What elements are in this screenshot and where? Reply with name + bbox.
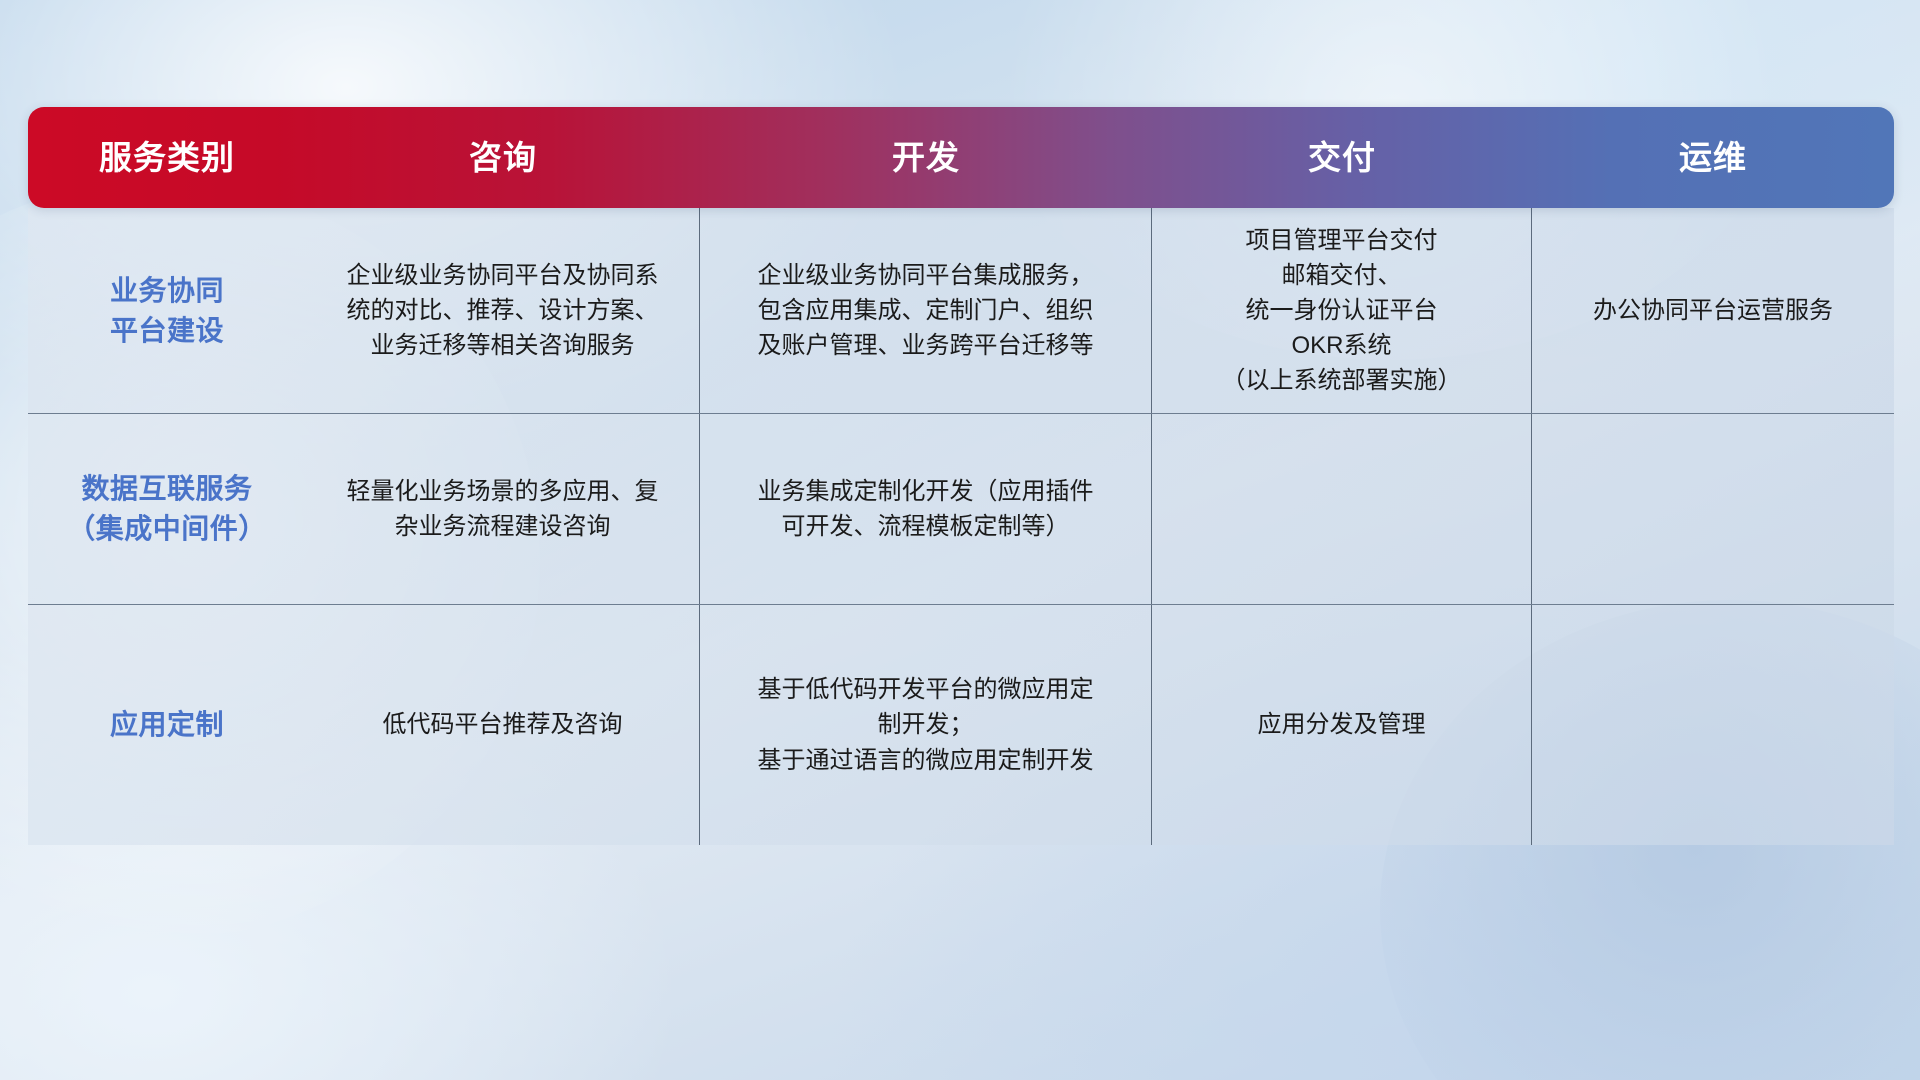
cell-text: 数据互联服务（集成中间件） [67, 469, 267, 549]
cell-text-line: 轻量化业务场景的多应用、复 [347, 474, 659, 509]
cell-text-line: 企业级业务协同平台及协同系 [347, 258, 659, 293]
cell-text-line: （集成中间件） [67, 509, 267, 549]
cell-text-line: 业务协同 [110, 271, 224, 311]
cell-text: 基于低代码开发平台的微应用定制开发；基于通过语言的微应用定制开发 [758, 672, 1094, 777]
row-delivery-cell: 应用分发及管理 [1152, 605, 1532, 845]
cell-text-line: 应用定制 [110, 705, 224, 745]
column-header-label: 服务类别 [99, 141, 235, 174]
row-consulting-cell: 企业级业务协同平台及协同系统的对比、推荐、设计方案、业务迁移等相关咨询服务 [306, 208, 700, 413]
service-matrix-table: 服务类别 咨询 开发 交付 运维 业务协同平台建设 企业级业务协同平台及协同系统… [28, 107, 1894, 845]
row-delivery-cell: 项目管理平台交付邮箱交付、统一身份认证平台OKR系统（以上系统部署实施） [1152, 208, 1532, 413]
cell-text-line: 低代码平台推荐及咨询 [383, 707, 623, 742]
row-category-cell: 业务协同平台建设 [28, 208, 306, 413]
table-row: 业务协同平台建设 企业级业务协同平台及协同系统的对比、推荐、设计方案、业务迁移等… [28, 208, 1894, 414]
cell-text-line: 基于低代码开发平台的微应用定 [758, 672, 1094, 707]
cell-text-line: 统一身份认证平台 [1222, 293, 1462, 328]
column-header-label: 开发 [892, 141, 960, 174]
cell-text: 业务集成定制化开发（应用插件可开发、流程模板定制等） [758, 474, 1094, 544]
column-header-label: 交付 [1308, 141, 1376, 174]
cell-text: 应用分发及管理 [1258, 707, 1426, 742]
row-category-cell: 数据互联服务（集成中间件） [28, 414, 306, 604]
cell-text: 企业级业务协同平台集成服务，包含应用集成、定制门户、组织及账户管理、业务跨平台迁… [758, 258, 1094, 363]
row-consulting-cell: 低代码平台推荐及咨询 [306, 605, 700, 845]
cell-text: 项目管理平台交付邮箱交付、统一身份认证平台OKR系统（以上系统部署实施） [1222, 223, 1462, 398]
cell-text-line: 可开发、流程模板定制等） [758, 509, 1094, 544]
row-operations-cell [1532, 414, 1894, 604]
column-header-consulting: 咨询 [306, 107, 700, 208]
cell-text: 低代码平台推荐及咨询 [383, 707, 623, 742]
cell-text-line: 邮箱交付、 [1222, 258, 1462, 293]
row-operations-cell: 办公协同平台运营服务 [1532, 208, 1894, 413]
row-delivery-cell [1152, 414, 1532, 604]
column-header-service-category: 服务类别 [28, 107, 306, 208]
cell-text-line: 基于通过语言的微应用定制开发 [758, 743, 1094, 778]
cell-text-line: 办公协同平台运营服务 [1593, 293, 1833, 328]
column-header-operations: 运维 [1532, 107, 1894, 208]
cell-text: 应用定制 [110, 705, 224, 745]
row-development-cell: 业务集成定制化开发（应用插件可开发、流程模板定制等） [700, 414, 1152, 604]
row-development-cell: 基于低代码开发平台的微应用定制开发；基于通过语言的微应用定制开发 [700, 605, 1152, 845]
cell-text: 业务协同平台建设 [110, 271, 224, 351]
cell-text-line: 包含应用集成、定制门户、组织 [758, 293, 1094, 328]
table-row: 应用定制 低代码平台推荐及咨询 基于低代码开发平台的微应用定制开发；基于通过语言… [28, 605, 1894, 845]
cell-text-line: 数据互联服务 [67, 469, 267, 509]
column-header-label: 运维 [1679, 141, 1747, 174]
column-header-development: 开发 [700, 107, 1152, 208]
cell-text-line: OKR系统 [1222, 328, 1462, 363]
cell-text-line: 业务集成定制化开发（应用插件 [758, 474, 1094, 509]
cell-text-line: （以上系统部署实施） [1222, 363, 1462, 398]
cell-text: 企业级业务协同平台及协同系统的对比、推荐、设计方案、业务迁移等相关咨询服务 [347, 258, 659, 363]
cell-text-line: 业务迁移等相关咨询服务 [347, 328, 659, 363]
row-development-cell: 企业级业务协同平台集成服务，包含应用集成、定制门户、组织及账户管理、业务跨平台迁… [700, 208, 1152, 413]
table-body: 业务协同平台建设 企业级业务协同平台及协同系统的对比、推荐、设计方案、业务迁移等… [28, 208, 1894, 845]
cell-text-line: 统的对比、推荐、设计方案、 [347, 293, 659, 328]
table-row: 数据互联服务（集成中间件） 轻量化业务场景的多应用、复杂业务流程建设咨询 业务集… [28, 414, 1894, 605]
cell-text-line: 项目管理平台交付 [1222, 223, 1462, 258]
cell-text: 轻量化业务场景的多应用、复杂业务流程建设咨询 [347, 474, 659, 544]
cell-text-line: 企业级业务协同平台集成服务， [758, 258, 1094, 293]
column-header-label: 咨询 [469, 141, 537, 174]
cell-text-line: 及账户管理、业务跨平台迁移等 [758, 328, 1094, 363]
table-header-row: 服务类别 咨询 开发 交付 运维 [28, 107, 1894, 208]
row-category-cell: 应用定制 [28, 605, 306, 845]
row-consulting-cell: 轻量化业务场景的多应用、复杂业务流程建设咨询 [306, 414, 700, 604]
column-header-delivery: 交付 [1152, 107, 1532, 208]
row-operations-cell [1532, 605, 1894, 845]
cell-text-line: 平台建设 [110, 311, 224, 351]
cell-text: 办公协同平台运营服务 [1593, 293, 1833, 328]
cell-text-line: 制开发； [758, 707, 1094, 742]
cell-text-line: 杂业务流程建设咨询 [347, 509, 659, 544]
cell-text-line: 应用分发及管理 [1258, 707, 1426, 742]
